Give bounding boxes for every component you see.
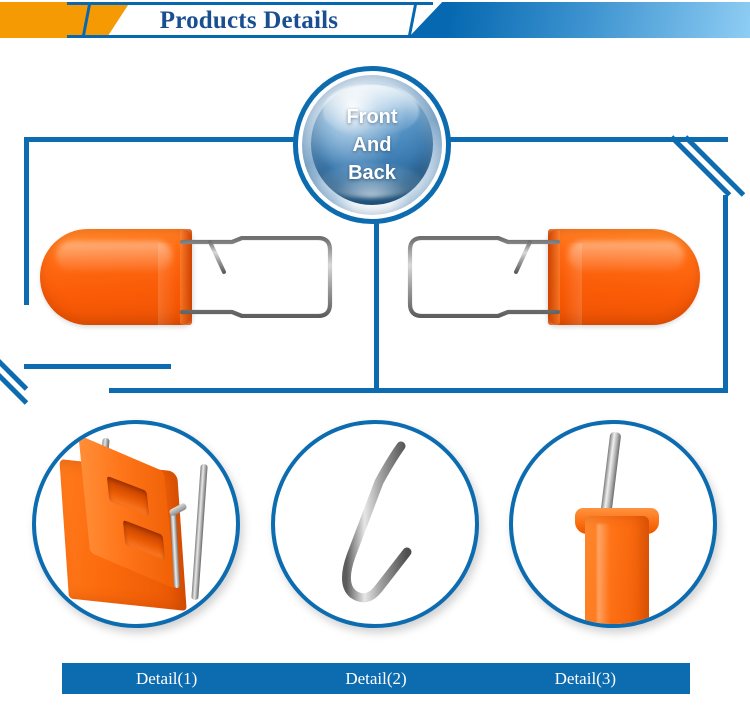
detail-caption-bar: Detail(1) Detail(2) Detail(3): [62, 663, 690, 694]
seal-metal-wire: [180, 236, 336, 318]
frame-corner-diagonal-top-right-outer: [670, 135, 732, 197]
detail3-handle-highlight: [597, 524, 610, 628]
seal-body-highlight: [56, 241, 172, 271]
detail1-right-wire: [191, 464, 207, 600]
detail-caption-3: Detail(3): [481, 663, 690, 694]
badge-label-line-3: Back: [348, 159, 396, 187]
seal-metal-wire: [404, 236, 560, 318]
badge-label-line-2: And: [353, 131, 392, 159]
page-header-banner: Products Details: [0, 0, 750, 45]
seal-plastic-body: [548, 229, 700, 325]
seal-body-edge-highlight: [564, 243, 582, 333]
product-image-back: [400, 218, 700, 336]
page-title: Products Details: [62, 0, 436, 41]
frame-left-border: [24, 137, 29, 305]
frame-right-border: [723, 195, 728, 393]
badge-label-group: Front And Back: [293, 66, 451, 224]
detail-photo-1: [32, 420, 240, 628]
detail-photo-3: [509, 420, 717, 628]
seal-plastic-body: [40, 229, 192, 325]
seal-body-highlight: [568, 241, 684, 271]
front-and-back-badge: Front And Back: [293, 66, 451, 224]
detail3-plastic-handle: [585, 516, 649, 628]
frame-bottom-left-border: [24, 364, 171, 369]
detail-caption-2: Detail(2): [271, 663, 480, 694]
detail-caption-1: Detail(1): [62, 663, 271, 694]
product-image-front: [40, 218, 340, 336]
detail2-wire-hook: [275, 424, 479, 628]
seal-body-edge-highlight: [158, 243, 176, 333]
badge-label-line-1: Front: [346, 103, 397, 131]
badge-connector-left: [24, 137, 294, 142]
badge-connector-right: [450, 137, 728, 142]
detail-photo-2: [271, 420, 479, 628]
header-blue-gradient-accent: [408, 2, 750, 38]
frame-bottom-border: [109, 388, 728, 393]
frame-corner-diagonal-top-right-inner: [684, 135, 746, 197]
